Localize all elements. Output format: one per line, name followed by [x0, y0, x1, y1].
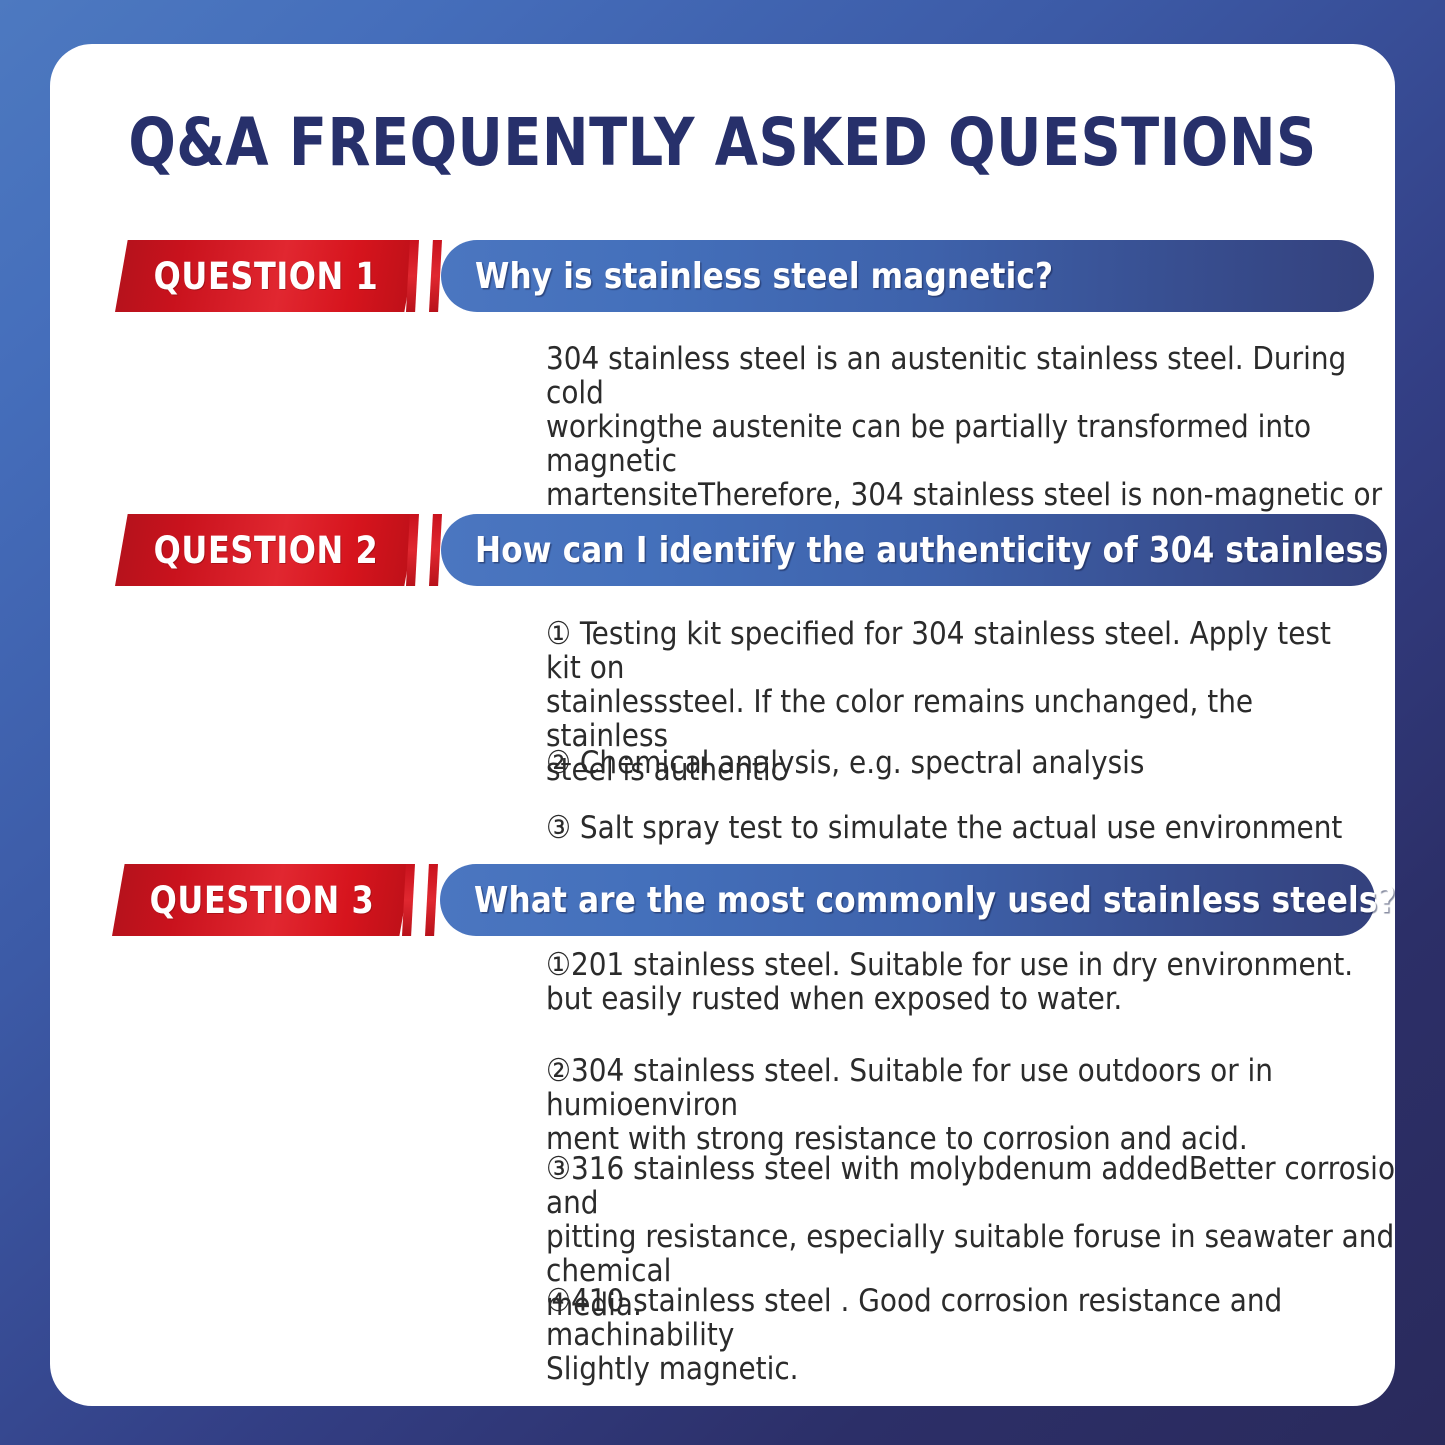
question-badge-2: QUESTION 2: [115, 514, 417, 586]
faq-page: Q&A FREQUENTLY ASKED QUESTIONS QUESTION …: [0, 0, 1445, 1445]
answer-block-2-2: ② Chemical analysis, e.g. spectral analy…: [546, 746, 1349, 780]
question-badge-label-1: QUESTION 1: [154, 255, 379, 298]
answer-block-3-2: ②304 stainless steel. Suitable for use o…: [546, 1054, 1395, 1156]
question-pill-3: What are the most commonly used stainles…: [440, 864, 1375, 936]
question-text-1: Why is stainless steel magnetic?: [475, 256, 1053, 297]
faq-card: Q&A FREQUENTLY ASKED QUESTIONS QUESTION …: [50, 44, 1395, 1406]
page-title: Q&A FREQUENTLY ASKED QUESTIONS: [90, 104, 1354, 181]
question-text-3: What are the most commonly used stainles…: [474, 880, 1395, 921]
question-badge-label-2: QUESTION 2: [154, 529, 379, 572]
question-text-2: How can I identify the authenticity of 3…: [475, 530, 1395, 571]
faq-row-3: QUESTION 3 What are the most commonly us…: [50, 864, 1395, 938]
answer-block-3-1: ①201 stainless steel. Suitable for use i…: [546, 948, 1395, 1016]
question-badge-3: QUESTION 3: [112, 864, 412, 936]
answer-block-2-3: ③ Salt spray test to simulate the actual…: [546, 811, 1349, 845]
question-pill-2: How can I identify the authenticity of 3…: [441, 514, 1387, 586]
question-badge-label-3: QUESTION 3: [150, 879, 375, 922]
faq-row-2: QUESTION 2 How can I identify the authen…: [50, 514, 1395, 588]
question-badge-1: QUESTION 1: [115, 240, 417, 312]
question-pill-1: Why is stainless steel magnetic?: [441, 240, 1374, 312]
answer-block-3-4: ④410 stainless steel . Good corrosion re…: [546, 1284, 1395, 1386]
slash-mark-b-3: [425, 864, 438, 936]
faq-row-1: QUESTION 1 Why is stainless steel magnet…: [50, 240, 1395, 314]
